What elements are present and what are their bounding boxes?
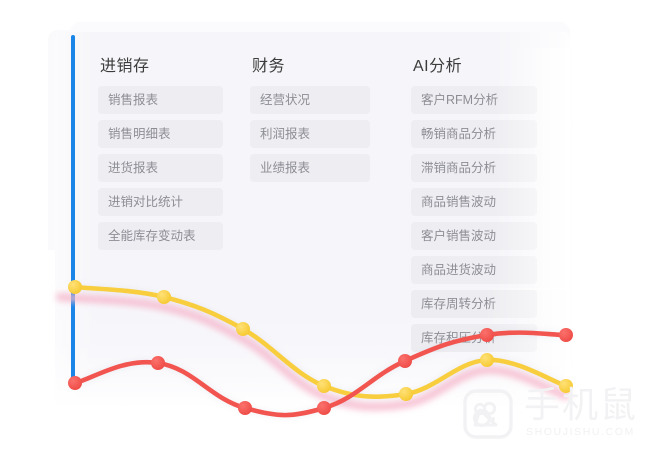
data-point[interactable] [480, 328, 494, 342]
column-title-finance: 财务 [252, 52, 370, 76]
data-point[interactable] [317, 379, 331, 393]
data-point[interactable] [398, 354, 412, 368]
data-point[interactable] [399, 387, 413, 401]
menu-item-business-status[interactable]: 经营状况 [250, 86, 370, 114]
data-point[interactable] [68, 280, 82, 294]
menu-item-purchase-report[interactable]: 进货报表 [98, 154, 223, 182]
data-point[interactable] [317, 401, 331, 415]
menu-item-customer-rfm-analysis[interactable]: 客户RFM分析 [411, 86, 537, 114]
data-point[interactable] [238, 401, 252, 415]
column-title-ai-analysis: AI分析 [413, 52, 537, 76]
menu-item-sales-detail-report[interactable]: 销售明细表 [98, 120, 223, 148]
menu-column-finance: 财务 经营状况 利润报表 业绩报表 [250, 52, 370, 188]
data-point[interactable] [559, 379, 573, 393]
yellow-series-dots [68, 280, 573, 401]
data-point[interactable] [559, 328, 573, 342]
data-point[interactable] [68, 376, 82, 390]
menu-item-sales-report[interactable]: 销售报表 [98, 86, 223, 114]
data-point[interactable] [151, 356, 165, 370]
menu-item-product-sales-fluctuation[interactable]: 商品销售波动 [411, 188, 537, 216]
menu-item-customer-sales-fluctuation[interactable]: 客户销售波动 [411, 222, 537, 250]
data-point[interactable] [236, 322, 250, 336]
pink-glow-path [60, 297, 566, 407]
menu-item-performance-report[interactable]: 业绩报表 [250, 154, 370, 182]
data-point[interactable] [157, 290, 171, 304]
data-point[interactable] [480, 353, 494, 367]
menu-item-profit-report[interactable]: 利润报表 [250, 120, 370, 148]
menu-item-full-inventory-change-report[interactable]: 全能库存变动表 [98, 222, 223, 250]
menu-item-slow-moving-product-analysis[interactable]: 滞销商品分析 [411, 154, 537, 182]
trend-line-chart [0, 255, 657, 440]
column-title-inventory: 进销存 [100, 52, 223, 76]
screenshot-stage: 进销存 销售报表 销售明细表 进货报表 进销对比统计 全能库存变动表 财务 经营… [0, 0, 657, 452]
menu-item-best-selling-product-analysis[interactable]: 畅销商品分析 [411, 120, 537, 148]
menu-column-inventory: 进销存 销售报表 销售明细表 进货报表 进销对比统计 全能库存变动表 [98, 52, 223, 256]
menu-item-purchase-sales-comparison[interactable]: 进销对比统计 [98, 188, 223, 216]
